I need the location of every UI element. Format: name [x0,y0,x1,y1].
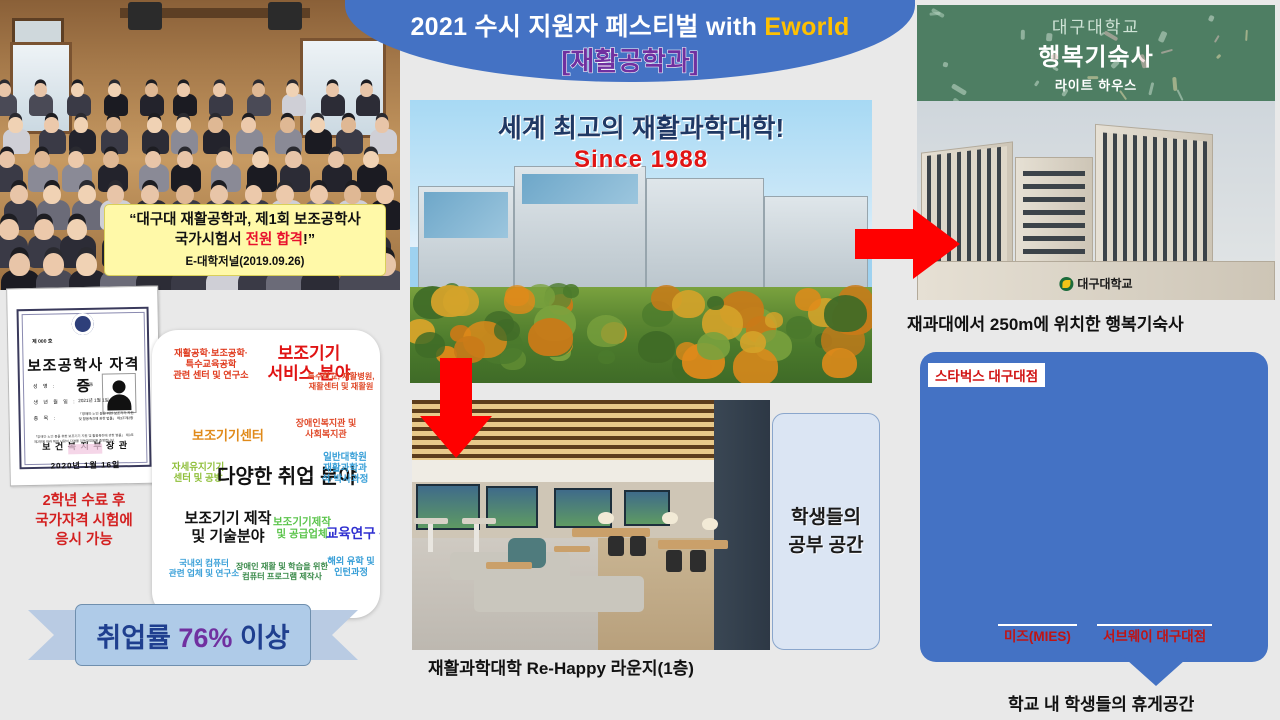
amenities-caption: 학교 내 학생들의 휴게공간 [1008,690,1194,715]
campus-photo: 세계 최고의 재활과학대학! Since 1988 [410,100,872,383]
person-head [0,151,15,168]
dormitory-block: 대구대학교 행복기숙사 라이트 하우스 대구대학교 [917,5,1275,300]
title-line-2: [재활공학과] [562,41,699,78]
confetti [1158,31,1167,43]
tree [528,318,573,356]
certificate-caption: 2학년 수료 후 국가자격 시험에 응시 가능 [4,492,164,551]
news-quote-box: “대구대 재활공학과, 제1회 보조공학사 국가시험서 전원 합격!” E-대학… [104,204,386,276]
person-head [44,117,59,133]
quote-highlight: 전원 합격 [246,232,303,248]
person-head [145,83,158,97]
person-head [74,117,89,133]
quote-line-2-suffix: !” [303,232,315,248]
amenities-pointer-icon [1118,652,1194,686]
person-head [280,117,295,133]
lounge-bench-1 [474,576,644,612]
title-line-1: 2021 수시 지원자 페스티벌 with Eworld [410,7,849,43]
person-head [147,117,162,133]
person-head [34,219,53,240]
person-head [76,253,97,276]
cert-name-value: 홍 길 동 [78,382,93,388]
speaker-left [128,2,162,30]
person-body [282,94,306,116]
word-cloud-item: 장애인복지관 및 사회복지관 [280,418,372,439]
confetti [1087,76,1098,79]
campus-building-far [764,196,868,296]
person-head [245,185,263,204]
person-head [0,219,19,240]
word-cloud-item: 보조기기센터 [172,428,284,443]
arrow-down-icon [418,358,494,458]
dark-pillar [714,400,770,650]
confetti [942,62,948,68]
university-emblem-icon [1059,277,1073,291]
lounge-chair-3 [666,550,682,572]
person-head [9,253,30,276]
lounge-lamp-3 [702,518,718,530]
tree [795,288,822,311]
campus-building-right [646,178,764,296]
person-head [176,117,191,133]
confetti [1021,29,1025,39]
study-space-callout: 학생들의 공부 공간 [772,413,880,650]
lounge-lamp-1 [598,512,614,524]
person-head [208,117,223,133]
tree [824,295,867,332]
person-head [216,151,232,168]
word-cloud-item: 교육연구 분야 [312,526,380,542]
tree [415,332,445,358]
lounge-caption: 재활과학대학 Re-Happy 라운지(1층) [428,654,694,679]
campus-headline: 세계 최고의 재활과학대학! [410,108,872,145]
person-head [10,185,28,204]
lounge-table-leg-2 [474,524,479,552]
person-head [177,83,190,97]
confetti [1034,80,1040,86]
person-head [328,151,344,168]
lounge-side-table-2 [554,546,590,552]
subway-label: 서브웨이 대구대점 [1097,624,1212,626]
campus-since: Since 1988 [410,146,872,174]
glass-facade-left [424,192,508,238]
tree [587,315,625,347]
confetti [1176,89,1183,101]
tree [765,312,783,327]
amenities-panel [920,352,1268,662]
slide-canvas: “대구대 재활공학과, 제1회 보조공학사 국가시험서 전원 합격!” E-대학… [0,0,1280,720]
cert-note-value: 「장애인·노인 등을 위한 보조기기 지원 및 활용촉진에 관한 법률」 제3조… [79,411,137,422]
lounge-round-table-2 [462,518,496,524]
person-head [344,185,362,204]
person-body [67,94,91,116]
quote-line-2-prefix: 국가시험서 [175,232,246,248]
glass-facade-center [522,174,638,204]
quote-source: E-대학저널(2019.09.26) [185,253,304,269]
word-cloud-item: 특수학교, 재활병원, 재활센터 및 재활원 [302,372,380,391]
cert-stamp-icon [68,444,102,455]
tree [707,296,724,310]
word-cloud-item: 일반대학원 재활과학과 석·박사과정 [308,452,380,486]
dorm-tower-right-windows [1103,132,1207,275]
lounge-chair-2 [630,536,646,556]
person-head [363,151,379,168]
tree [786,316,813,339]
person-body [209,94,233,116]
confetti [1161,49,1173,55]
certificate-border: 제 000 호 보조공학사 자격증 성 명 : 홍 길 동 생 년 월 일 : … [17,307,152,470]
person-head [68,151,84,168]
person-head [78,185,96,204]
person-head [252,151,268,168]
tree [598,350,615,364]
rate-percent: 76% [178,623,232,653]
person-head [108,83,121,97]
tree [697,332,730,360]
person-head [107,185,125,204]
mies-label: 미즈(MIES) [998,624,1077,626]
person-body [173,94,197,116]
person-body [356,94,380,116]
starbucks-label: 스타벅스 대구대점 [928,363,1045,387]
confetti [1207,15,1214,23]
quote-line-2: 국가시험서 전원 합격!” [175,231,315,251]
quote-line-1: “대구대 재활공학과, 제1회 보조공학사 [129,211,361,231]
word-cloud-item: 해외 유학 및 인턴과정 [320,556,380,578]
word-cloud-item: 재활공학·보조공학· 특수교육공학 관련 센터 및 연구소 [163,348,259,381]
cert-name-label: 성 명 : [33,383,57,390]
person-head [341,117,356,133]
lounge-side-table-1 [486,562,532,569]
confetti [1216,54,1222,60]
tree [504,287,535,313]
dormitory-caption: 재과대에서 250m에 위치한 행복기숙사 [907,310,1184,335]
university-logo-text: 대구대학교 [1077,275,1132,292]
person-head [141,185,159,204]
person-head [210,185,228,204]
person-head [252,83,265,97]
person-head [145,151,161,168]
person-head [67,219,86,240]
lounge-lamp-2 [662,512,678,524]
person-head [0,83,11,97]
rate-prefix: 취업률 [96,623,178,653]
person-head [286,83,299,97]
study-space-text: 학생들의 공부 공간 [788,504,863,559]
person-head [34,83,47,97]
person-head [43,253,64,276]
career-word-cloud: 재활공학·보조공학· 특수교육공학 관련 센터 및 연구소보조기기 서비스 분야… [152,330,380,618]
person-head [376,185,394,204]
dormitory-photo: 대구대학교 [917,101,1275,300]
lounge-table-2 [658,540,728,549]
person-head [176,185,194,204]
person-head [8,117,23,133]
person-head [241,117,256,133]
confetti [1173,77,1178,91]
cert-note-label: 종 목 : [34,415,58,422]
person-head [213,83,226,97]
person-head [310,117,325,133]
lounge-chair-4 [690,550,706,572]
confetti [951,83,967,96]
ribbon-body: 취업률 76% 이상 [75,604,311,666]
certificate-image: 제 000 호 보조공학사 자격증 성 명 : 홍 길 동 생 년 월 일 : … [6,286,162,487]
confetti [1214,35,1220,43]
tree [443,286,479,317]
title-accent: Eworld [764,13,849,41]
person-head [43,185,61,204]
government-emblem-icon [72,313,94,335]
tree [638,331,675,362]
cert-issue-date: 2020년 1월 16일 [21,459,149,472]
person-head [106,117,121,133]
certificate-photo-icon [102,373,137,414]
tree [563,284,579,298]
tree [494,319,520,341]
person-head [375,117,390,133]
slide-title-banner: 2021 수시 지원자 페스티벌 with Eworld [재활공학과] [345,0,915,82]
campus-overlay-text: 세계 최고의 재활과학대학! Since 1988 [410,108,872,174]
person-body [104,94,128,116]
person-head [310,185,328,204]
confetti [1148,82,1155,96]
certificate-number: 제 000 호 [32,338,52,345]
cert-birth-label: 생 년 월 일 : [33,398,76,406]
speaker-right [268,2,302,30]
lounge-round-table-1 [414,518,448,524]
lounge-table-leg-1 [428,524,433,552]
tree [672,290,705,318]
dorm-tower-center-windows [1023,163,1085,273]
university-logo: 대구대학교 [1059,275,1132,292]
employment-rate-ribbon: 취업률 76% 이상 [28,604,358,666]
employment-rate-text: 취업률 76% 이상 [96,616,289,655]
rate-suffix: 이상 [232,623,289,653]
person-head [276,185,294,204]
confetti [1245,29,1248,41]
cert-birth-value: 2021년 1월 1일 [78,398,109,405]
lounge-chair-1 [608,536,624,556]
tree [822,348,857,378]
dorm-university-name: 대구대학교 [1052,13,1140,38]
tree [740,331,766,353]
person-head [285,151,301,168]
arrow-right-icon [855,205,960,283]
dormitory-banner: 대구대학교 행복기숙사 라이트 하우스 [917,5,1275,101]
title-prefix: 2021 수시 지원자 페스티벌 with [410,13,764,41]
person-head [326,83,339,97]
